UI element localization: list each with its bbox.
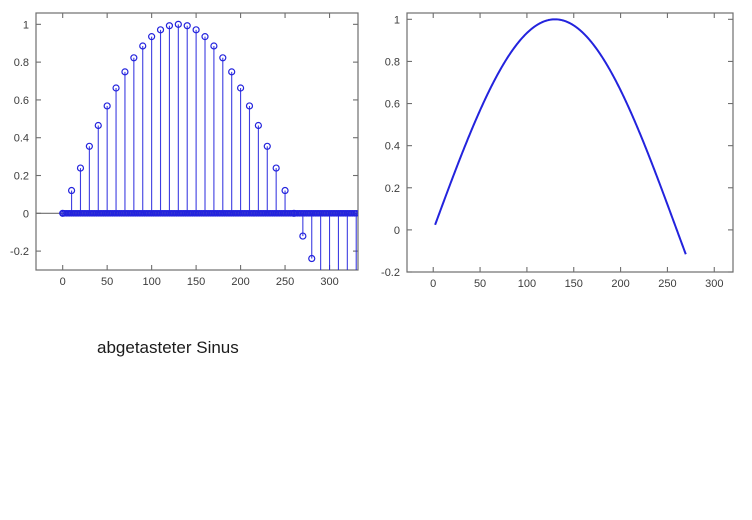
stem-marker xyxy=(327,298,333,304)
y-axis-tick-label: 1 xyxy=(394,14,400,26)
x-axis-tick-label: 100 xyxy=(518,278,536,290)
caption-sampled-sine: abgetasteter Sinus xyxy=(97,336,239,359)
y-axis-tick-label: 0.6 xyxy=(14,95,29,107)
x-axis-tick-label: 0 xyxy=(60,276,66,288)
y-axis-tick-label: 1 xyxy=(23,19,29,31)
x-axis-tick-label: 300 xyxy=(705,278,723,290)
sine-curve xyxy=(435,19,686,254)
panel-reconstructed-sine: 050100150200250300-0.200.20.40.60.81 rek… xyxy=(380,0,752,407)
plot-reconstructed-sine: 050100150200250300-0.200.20.40.60.81 xyxy=(380,0,752,310)
y-axis-tick-label: 0.8 xyxy=(14,57,29,69)
plot-data-layer xyxy=(435,19,686,254)
x-axis-tick-label: 50 xyxy=(474,278,486,290)
plot-frame xyxy=(36,13,358,270)
y-axis-tick-label: 0.8 xyxy=(385,56,400,68)
x-axis-tick-label: 250 xyxy=(276,276,294,288)
x-axis-tick-label: 150 xyxy=(187,276,205,288)
plot-sampled-sine: 050100150200250300-0.200.20.40.60.81 xyxy=(0,0,380,310)
y-axis-tick-label: 0 xyxy=(23,208,29,220)
x-axis-tick-label: 300 xyxy=(320,276,338,288)
y-axis-tick-label: 0.6 xyxy=(385,99,400,111)
y-axis-tick-label: -0.2 xyxy=(10,246,29,258)
x-axis-tick-label: 200 xyxy=(231,276,249,288)
figure-container: 050100150200250300-0.200.20.40.60.81 abg… xyxy=(0,0,752,407)
x-axis-tick-label: 250 xyxy=(658,278,676,290)
x-axis-tick-label: 100 xyxy=(142,276,160,288)
x-axis-tick-label: 200 xyxy=(611,278,629,290)
x-axis-tick-label: 50 xyxy=(101,276,113,288)
y-axis-tick-label: -0.2 xyxy=(381,267,400,279)
plot-data-layer xyxy=(36,21,359,310)
x-axis-tick-label: 0 xyxy=(430,278,436,290)
panel-sampled-sine: 050100150200250300-0.200.20.40.60.81 abg… xyxy=(0,0,380,407)
y-axis-tick-label: 0.2 xyxy=(14,171,29,183)
y-axis-tick-label: 0.4 xyxy=(14,133,29,145)
plot-frame xyxy=(407,13,733,272)
x-axis-tick-label: 150 xyxy=(565,278,583,290)
y-axis-tick-label: 0 xyxy=(394,225,400,237)
y-axis-tick-label: 0.4 xyxy=(385,141,400,153)
y-axis-tick-label: 0.2 xyxy=(385,183,400,195)
